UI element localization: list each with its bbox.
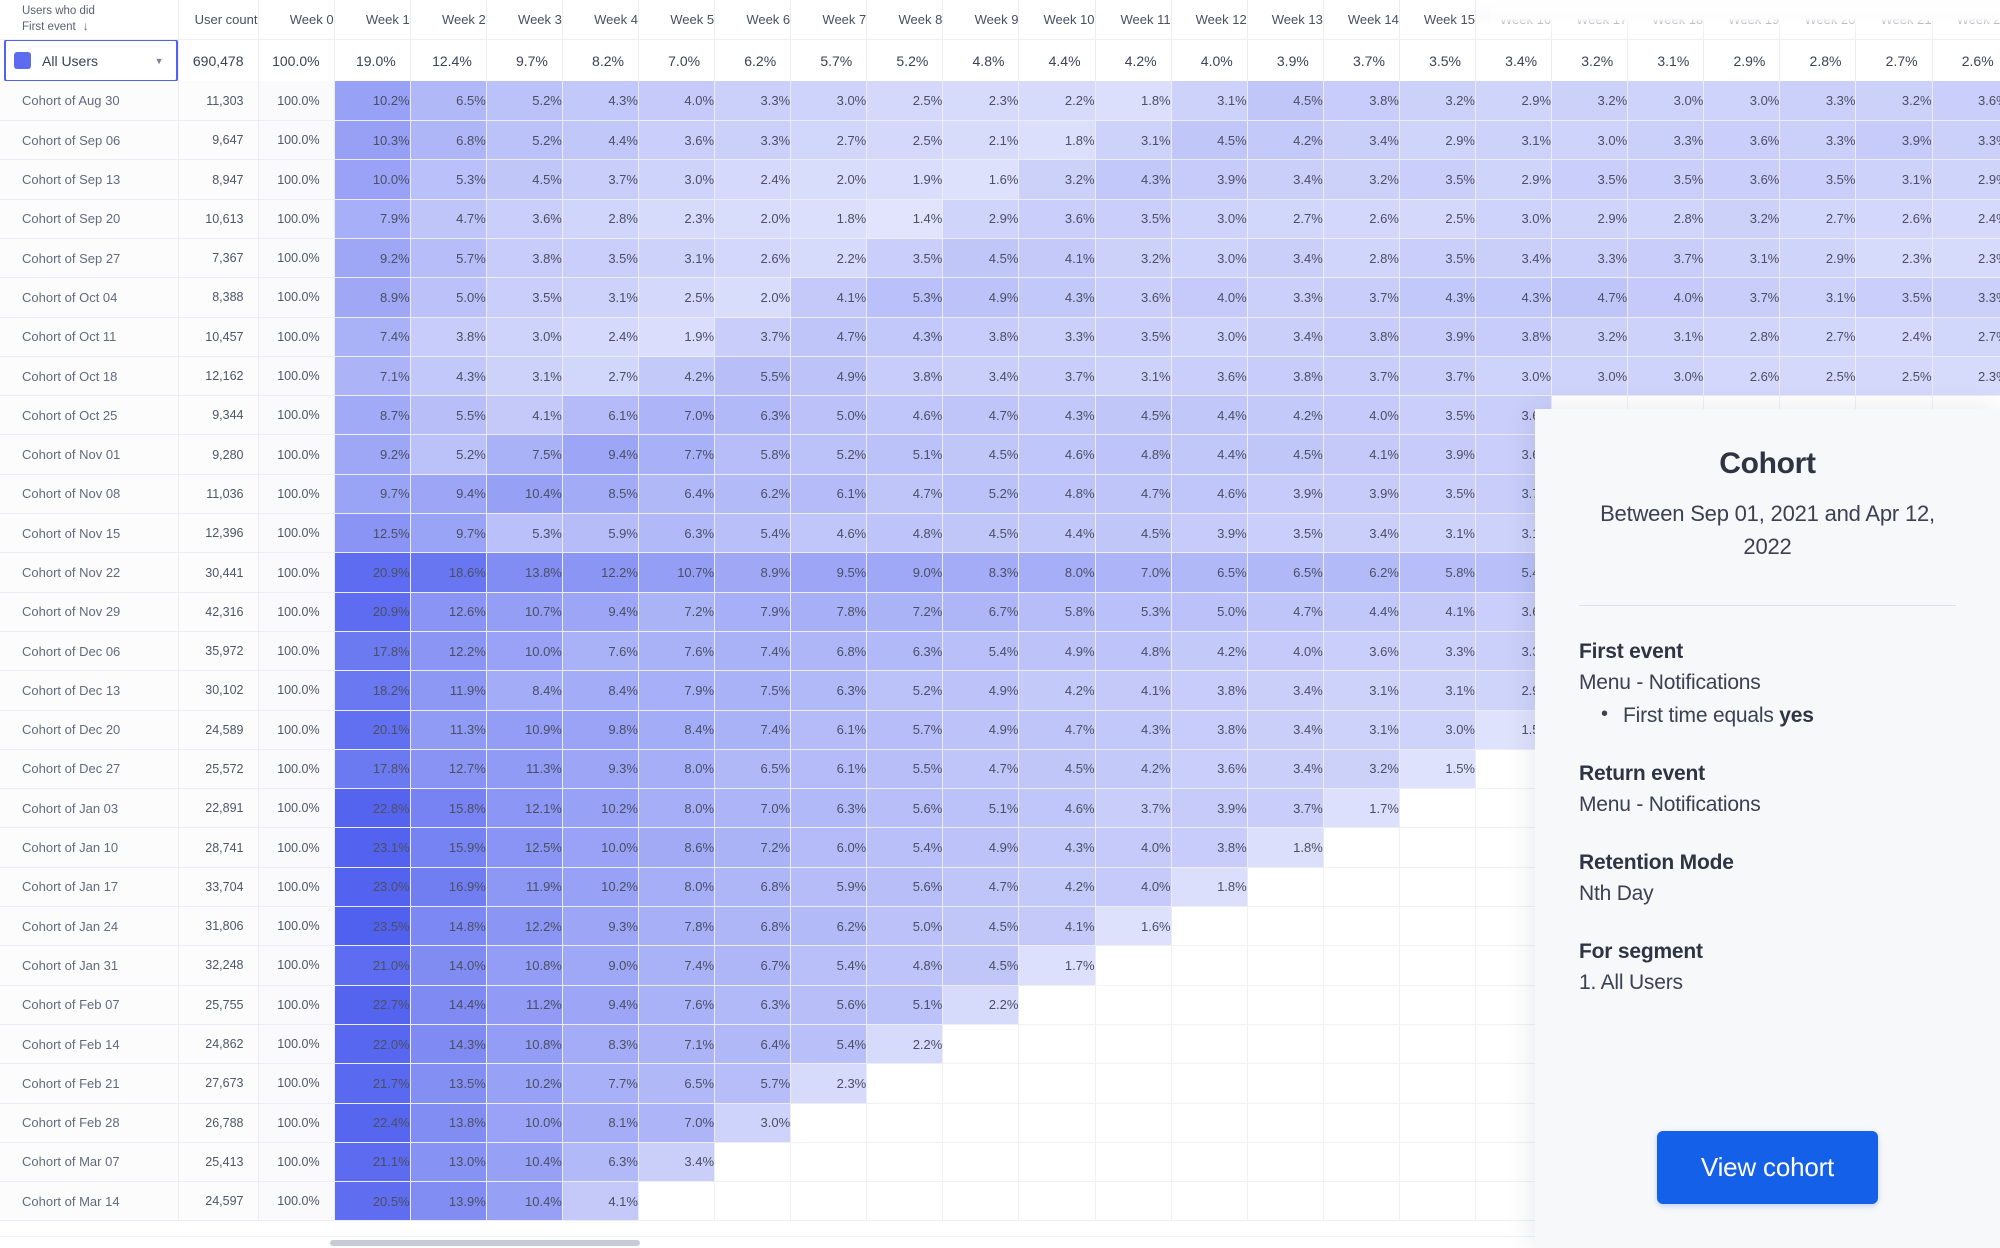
- heatmap-cell[interactable]: 5.8%: [715, 435, 791, 474]
- heatmap-cell[interactable]: 4.7%: [1247, 592, 1323, 631]
- heatmap-cell[interactable]: 7.4%: [715, 631, 791, 670]
- heatmap-cell[interactable]: 5.2%: [867, 671, 943, 710]
- cohort-label[interactable]: Cohort of Nov 01: [0, 435, 178, 474]
- heatmap-cell[interactable]: 4.3%: [562, 81, 638, 120]
- heatmap-cell[interactable]: 9.4%: [562, 435, 638, 474]
- heatmap-cell[interactable]: 1.8%: [1247, 828, 1323, 867]
- heatmap-cell[interactable]: 5.2%: [791, 435, 867, 474]
- heatmap-cell[interactable]: 3.4%: [1247, 671, 1323, 710]
- heatmap-cell[interactable]: 2.4%: [1856, 317, 1932, 356]
- cohort-label[interactable]: Cohort of Nov 29: [0, 592, 178, 631]
- heatmap-cell[interactable]: 5.5%: [715, 356, 791, 395]
- heatmap-cell[interactable]: 23.0%: [334, 867, 410, 906]
- heatmap-cell[interactable]: 4.5%: [943, 514, 1019, 553]
- heatmap-cell[interactable]: 9.4%: [410, 474, 486, 513]
- heatmap-cell[interactable]: 4.9%: [791, 356, 867, 395]
- heatmap-cell[interactable]: 3.9%: [1399, 435, 1475, 474]
- heatmap-cell[interactable]: 2.3%: [791, 1064, 867, 1103]
- heatmap-cell[interactable]: 4.3%: [1019, 396, 1095, 435]
- heatmap-cell[interactable]: 14.0%: [410, 946, 486, 985]
- heatmap-cell[interactable]: 5.8%: [1399, 553, 1475, 592]
- heatmap-cell[interactable]: 5.6%: [791, 985, 867, 1024]
- heatmap-cell[interactable]: 12.2%: [410, 631, 486, 670]
- heatmap-cell[interactable]: 3.2%: [1552, 317, 1628, 356]
- heatmap-cell[interactable]: 3.1%: [1399, 514, 1475, 553]
- cohort-label[interactable]: Cohort of Dec 20: [0, 710, 178, 749]
- heatmap-cell[interactable]: 3.9%: [1856, 121, 1932, 160]
- heatmap-cell[interactable]: 8.3%: [943, 553, 1019, 592]
- heatmap-cell[interactable]: 10.0%: [334, 160, 410, 199]
- heatmap-cell[interactable]: 7.9%: [334, 199, 410, 238]
- heatmap-cell[interactable]: 15.9%: [410, 828, 486, 867]
- heatmap-cell[interactable]: 5.4%: [715, 514, 791, 553]
- heatmap-cell[interactable]: 4.7%: [410, 199, 486, 238]
- heatmap-cell[interactable]: 3.5%: [1399, 396, 1475, 435]
- header-week-8[interactable]: Week 8: [867, 0, 943, 39]
- heatmap-cell[interactable]: 2.5%: [1399, 199, 1475, 238]
- heatmap-cell[interactable]: 5.6%: [867, 867, 943, 906]
- heatmap-cell[interactable]: 3.1%: [1323, 710, 1399, 749]
- heatmap-cell[interactable]: 4.2%: [1171, 631, 1247, 670]
- heatmap-cell[interactable]: 11.9%: [486, 867, 562, 906]
- heatmap-cell[interactable]: 6.2%: [1323, 553, 1399, 592]
- heatmap-cell[interactable]: 5.4%: [867, 828, 943, 867]
- heatmap-cell[interactable]: 3.1%: [1856, 160, 1932, 199]
- heatmap-cell[interactable]: 1.4%: [867, 199, 943, 238]
- heatmap-cell[interactable]: 3.8%: [1476, 317, 1552, 356]
- header-week-10[interactable]: Week 10: [1019, 0, 1095, 39]
- heatmap-cell[interactable]: 2.8%: [1628, 199, 1704, 238]
- heatmap-cell[interactable]: 4.3%: [1476, 278, 1552, 317]
- heatmap-cell[interactable]: 5.3%: [1095, 592, 1171, 631]
- heatmap-cell[interactable]: 3.2%: [1323, 749, 1399, 788]
- heatmap-cell[interactable]: 10.0%: [486, 631, 562, 670]
- heatmap-cell[interactable]: 4.3%: [410, 356, 486, 395]
- cohort-label[interactable]: Cohort of Feb 07: [0, 985, 178, 1024]
- heatmap-cell[interactable]: 4.4%: [1171, 435, 1247, 474]
- cohort-label[interactable]: Cohort of Sep 27: [0, 238, 178, 277]
- heatmap-cell[interactable]: 5.2%: [486, 81, 562, 120]
- heatmap-cell[interactable]: 3.0%: [1171, 238, 1247, 277]
- heatmap-cell[interactable]: 3.1%: [1628, 317, 1704, 356]
- heatmap-cell[interactable]: 3.8%: [1323, 81, 1399, 120]
- heatmap-cell[interactable]: 3.1%: [638, 238, 714, 277]
- heatmap-cell[interactable]: 10.9%: [486, 710, 562, 749]
- heatmap-cell[interactable]: 7.8%: [791, 592, 867, 631]
- heatmap-cell[interactable]: 9.0%: [562, 946, 638, 985]
- heatmap-cell[interactable]: 3.4%: [1247, 710, 1323, 749]
- heatmap-cell[interactable]: 4.2%: [1019, 867, 1095, 906]
- heatmap-cell[interactable]: 8.0%: [1019, 553, 1095, 592]
- heatmap-cell[interactable]: 20.9%: [334, 553, 410, 592]
- heatmap-cell[interactable]: 4.7%: [943, 867, 1019, 906]
- heatmap-cell[interactable]: 4.8%: [867, 514, 943, 553]
- heatmap-cell[interactable]: 4.0%: [1628, 278, 1704, 317]
- cohort-label[interactable]: Cohort of Feb 28: [0, 1103, 178, 1142]
- heatmap-cell[interactable]: 3.3%: [1780, 121, 1856, 160]
- heatmap-cell[interactable]: 4.5%: [1247, 81, 1323, 120]
- heatmap-cell[interactable]: 7.0%: [715, 789, 791, 828]
- heatmap-cell[interactable]: 3.7%: [1323, 278, 1399, 317]
- heatmap-cell[interactable]: 12.2%: [486, 907, 562, 946]
- heatmap-cell[interactable]: 4.7%: [1552, 278, 1628, 317]
- heatmap-cell[interactable]: 2.7%: [1932, 317, 2000, 356]
- heatmap-cell[interactable]: 4.9%: [943, 278, 1019, 317]
- heatmap-cell[interactable]: 3.5%: [1856, 278, 1932, 317]
- heatmap-cell[interactable]: 3.5%: [867, 238, 943, 277]
- cohort-label[interactable]: Cohort of Nov 08: [0, 474, 178, 513]
- heatmap-cell[interactable]: 3.1%: [486, 356, 562, 395]
- heatmap-cell[interactable]: 2.5%: [638, 278, 714, 317]
- cohort-label[interactable]: Cohort of Dec 13: [0, 671, 178, 710]
- heatmap-cell[interactable]: 13.8%: [486, 553, 562, 592]
- heatmap-cell[interactable]: 1.7%: [1019, 946, 1095, 985]
- header-user-count[interactable]: User count: [178, 0, 258, 39]
- heatmap-cell[interactable]: 3.3%: [1628, 121, 1704, 160]
- heatmap-cell[interactable]: 2.7%: [1780, 317, 1856, 356]
- heatmap-cell[interactable]: 6.3%: [867, 631, 943, 670]
- heatmap-cell[interactable]: 10.4%: [486, 474, 562, 513]
- heatmap-cell[interactable]: 7.4%: [715, 710, 791, 749]
- heatmap-cell[interactable]: 2.6%: [1856, 199, 1932, 238]
- heatmap-cell[interactable]: 3.6%: [1095, 278, 1171, 317]
- heatmap-cell[interactable]: 22.0%: [334, 1024, 410, 1063]
- heatmap-cell[interactable]: 3.8%: [486, 238, 562, 277]
- heatmap-cell[interactable]: 14.8%: [410, 907, 486, 946]
- cohort-label[interactable]: Cohort of Oct 18: [0, 356, 178, 395]
- heatmap-cell[interactable]: 4.6%: [1171, 474, 1247, 513]
- heatmap-cell[interactable]: 3.7%: [1019, 356, 1095, 395]
- cohort-label[interactable]: Cohort of Dec 06: [0, 631, 178, 670]
- table-row[interactable]: Cohort of Oct 048,388100.0%8.9%5.0%3.5%3…: [0, 278, 2000, 317]
- heatmap-cell[interactable]: 18.6%: [410, 553, 486, 592]
- heatmap-cell[interactable]: 3.3%: [1932, 278, 2000, 317]
- heatmap-cell[interactable]: 9.7%: [410, 514, 486, 553]
- heatmap-cell[interactable]: 4.7%: [1095, 474, 1171, 513]
- heatmap-cell[interactable]: 7.7%: [562, 1064, 638, 1103]
- heatmap-cell[interactable]: 22.4%: [334, 1103, 410, 1142]
- heatmap-cell[interactable]: 2.8%: [1704, 317, 1780, 356]
- heatmap-cell[interactable]: 3.3%: [715, 81, 791, 120]
- heatmap-cell[interactable]: 3.0%: [1552, 356, 1628, 395]
- heatmap-cell[interactable]: 5.8%: [1019, 592, 1095, 631]
- heatmap-cell[interactable]: 1.6%: [1095, 907, 1171, 946]
- heatmap-cell[interactable]: 9.2%: [334, 435, 410, 474]
- cohort-label[interactable]: Cohort of Jan 03: [0, 789, 178, 828]
- heatmap-cell[interactable]: 7.1%: [638, 1024, 714, 1063]
- heatmap-cell[interactable]: 11.9%: [410, 671, 486, 710]
- heatmap-cell[interactable]: 5.9%: [562, 514, 638, 553]
- heatmap-cell[interactable]: 8.3%: [562, 1024, 638, 1063]
- heatmap-cell[interactable]: 7.1%: [334, 356, 410, 395]
- horizontal-scrollbar-track[interactable]: [0, 1236, 1535, 1248]
- heatmap-cell[interactable]: 3.0%: [791, 81, 867, 120]
- heatmap-cell[interactable]: 3.1%: [1399, 671, 1475, 710]
- heatmap-cell[interactable]: 10.7%: [638, 553, 714, 592]
- sort-descending-icon[interactable]: ↓: [83, 19, 89, 34]
- heatmap-cell[interactable]: 3.8%: [1171, 828, 1247, 867]
- heatmap-cell[interactable]: 4.4%: [562, 121, 638, 160]
- heatmap-cell[interactable]: 22.7%: [334, 985, 410, 1024]
- heatmap-cell[interactable]: 3.0%: [1399, 710, 1475, 749]
- heatmap-cell[interactable]: 3.0%: [1171, 317, 1247, 356]
- heatmap-cell[interactable]: 4.1%: [1399, 592, 1475, 631]
- heatmap-cell[interactable]: 7.7%: [638, 435, 714, 474]
- heatmap-cell[interactable]: 5.7%: [867, 710, 943, 749]
- header-week-12[interactable]: Week 12: [1171, 0, 1247, 39]
- heatmap-cell[interactable]: 2.4%: [1932, 199, 2000, 238]
- heatmap-cell[interactable]: 4.2%: [1247, 396, 1323, 435]
- table-row[interactable]: Cohort of Sep 2010,613100.0%7.9%4.7%3.6%…: [0, 199, 2000, 238]
- heatmap-cell[interactable]: 3.9%: [1247, 474, 1323, 513]
- heatmap-cell[interactable]: 1.8%: [1019, 121, 1095, 160]
- heatmap-cell[interactable]: 14.3%: [410, 1024, 486, 1063]
- heatmap-cell[interactable]: 4.8%: [1019, 474, 1095, 513]
- heatmap-cell[interactable]: 4.3%: [1019, 828, 1095, 867]
- heatmap-cell[interactable]: 2.8%: [562, 199, 638, 238]
- heatmap-cell[interactable]: 3.0%: [638, 160, 714, 199]
- heatmap-cell[interactable]: 1.9%: [867, 160, 943, 199]
- heatmap-cell[interactable]: 1.8%: [791, 199, 867, 238]
- heatmap-cell[interactable]: 4.1%: [486, 396, 562, 435]
- heatmap-cell[interactable]: 6.3%: [562, 1142, 638, 1181]
- header-week-17[interactable]: Week 17: [1552, 0, 1628, 39]
- heatmap-cell[interactable]: 7.6%: [562, 631, 638, 670]
- heatmap-cell[interactable]: 7.2%: [867, 592, 943, 631]
- heatmap-cell[interactable]: 4.5%: [1171, 121, 1247, 160]
- heatmap-cell[interactable]: 6.7%: [715, 946, 791, 985]
- heatmap-cell[interactable]: 7.2%: [715, 828, 791, 867]
- heatmap-cell[interactable]: 8.7%: [334, 396, 410, 435]
- heatmap-cell[interactable]: 8.4%: [486, 671, 562, 710]
- heatmap-cell[interactable]: 3.7%: [1095, 789, 1171, 828]
- heatmap-cell[interactable]: 23.5%: [334, 907, 410, 946]
- heatmap-cell[interactable]: 10.2%: [334, 81, 410, 120]
- heatmap-cell[interactable]: 2.3%: [638, 199, 714, 238]
- heatmap-cell[interactable]: 4.0%: [1095, 828, 1171, 867]
- all-users-cell[interactable]: All Users▼: [0, 39, 178, 81]
- heatmap-cell[interactable]: 9.8%: [562, 710, 638, 749]
- heatmap-cell[interactable]: 21.1%: [334, 1142, 410, 1181]
- heatmap-cell[interactable]: 12.5%: [486, 828, 562, 867]
- heatmap-cell[interactable]: 5.3%: [410, 160, 486, 199]
- header-week-22[interactable]: Week 22: [1932, 0, 2000, 39]
- heatmap-cell[interactable]: 15.8%: [410, 789, 486, 828]
- heatmap-cell[interactable]: 4.8%: [867, 946, 943, 985]
- heatmap-cell[interactable]: 4.5%: [1095, 396, 1171, 435]
- heatmap-cell[interactable]: 4.4%: [1171, 396, 1247, 435]
- heatmap-cell[interactable]: 2.8%: [1323, 238, 1399, 277]
- heatmap-cell[interactable]: 4.3%: [1095, 160, 1171, 199]
- heatmap-cell[interactable]: 9.3%: [562, 749, 638, 788]
- heatmap-cell[interactable]: 6.5%: [638, 1064, 714, 1103]
- heatmap-cell[interactable]: 5.1%: [867, 985, 943, 1024]
- heatmap-cell[interactable]: 5.2%: [943, 474, 1019, 513]
- heatmap-cell[interactable]: 3.4%: [1247, 160, 1323, 199]
- heatmap-cell[interactable]: 4.7%: [943, 396, 1019, 435]
- heatmap-cell[interactable]: 5.4%: [791, 1024, 867, 1063]
- header-week-9[interactable]: Week 9: [943, 0, 1019, 39]
- heatmap-cell[interactable]: 4.5%: [1019, 749, 1095, 788]
- heatmap-cell[interactable]: 5.9%: [791, 867, 867, 906]
- heatmap-cell[interactable]: 3.1%: [562, 278, 638, 317]
- heatmap-cell[interactable]: 3.0%: [1476, 199, 1552, 238]
- heatmap-cell[interactable]: 4.0%: [1095, 867, 1171, 906]
- heatmap-cell[interactable]: 13.5%: [410, 1064, 486, 1103]
- cohort-label[interactable]: Cohort of Sep 20: [0, 199, 178, 238]
- heatmap-cell[interactable]: 5.0%: [791, 396, 867, 435]
- heatmap-cell[interactable]: 8.0%: [638, 789, 714, 828]
- heatmap-cell[interactable]: 1.5%: [1399, 749, 1475, 788]
- heatmap-cell[interactable]: 8.4%: [638, 710, 714, 749]
- heatmap-cell[interactable]: 3.4%: [1323, 514, 1399, 553]
- heatmap-cell[interactable]: 4.8%: [1095, 435, 1171, 474]
- heatmap-cell[interactable]: 9.3%: [562, 907, 638, 946]
- heatmap-cell[interactable]: 7.5%: [715, 671, 791, 710]
- header-week-0[interactable]: Week 0: [258, 0, 334, 39]
- heatmap-cell[interactable]: 3.1%: [1780, 278, 1856, 317]
- heatmap-cell[interactable]: 10.2%: [562, 867, 638, 906]
- heatmap-cell[interactable]: 8.9%: [334, 278, 410, 317]
- heatmap-cell[interactable]: 11.3%: [410, 710, 486, 749]
- cohort-label[interactable]: Cohort of Mar 07: [0, 1142, 178, 1181]
- heatmap-cell[interactable]: 3.9%: [1171, 160, 1247, 199]
- header-week-6[interactable]: Week 6: [715, 0, 791, 39]
- heatmap-cell[interactable]: 4.6%: [1019, 789, 1095, 828]
- heatmap-cell[interactable]: 12.2%: [562, 553, 638, 592]
- cohort-label[interactable]: Cohort of Jan 24: [0, 907, 178, 946]
- heatmap-cell[interactable]: 13.9%: [410, 1182, 486, 1221]
- heatmap-cell[interactable]: 2.9%: [1476, 160, 1552, 199]
- heatmap-cell[interactable]: 4.0%: [1323, 396, 1399, 435]
- heatmap-cell[interactable]: 10.0%: [562, 828, 638, 867]
- heatmap-cell[interactable]: 12.5%: [334, 514, 410, 553]
- heatmap-cell[interactable]: 3.5%: [1399, 474, 1475, 513]
- header-week-5[interactable]: Week 5: [638, 0, 714, 39]
- heatmap-cell[interactable]: 12.1%: [486, 789, 562, 828]
- heatmap-cell[interactable]: 3.2%: [1095, 238, 1171, 277]
- heatmap-cell[interactable]: 2.2%: [791, 238, 867, 277]
- heatmap-cell[interactable]: 5.2%: [410, 435, 486, 474]
- heatmap-cell[interactable]: 3.1%: [1704, 238, 1780, 277]
- heatmap-cell[interactable]: 4.6%: [791, 514, 867, 553]
- cohort-label[interactable]: Cohort of Sep 06: [0, 121, 178, 160]
- heatmap-cell[interactable]: 2.9%: [1552, 199, 1628, 238]
- heatmap-cell[interactable]: 4.1%: [791, 278, 867, 317]
- heatmap-cell[interactable]: 3.3%: [1932, 121, 2000, 160]
- heatmap-cell[interactable]: 2.6%: [1704, 356, 1780, 395]
- heatmap-cell[interactable]: 22.8%: [334, 789, 410, 828]
- heatmap-cell[interactable]: 3.2%: [1856, 81, 1932, 120]
- heatmap-cell[interactable]: 6.8%: [410, 121, 486, 160]
- heatmap-cell[interactable]: 3.4%: [943, 356, 1019, 395]
- heatmap-cell[interactable]: 3.0%: [1628, 81, 1704, 120]
- heatmap-cell[interactable]: 2.3%: [943, 81, 1019, 120]
- heatmap-cell[interactable]: 1.8%: [1095, 81, 1171, 120]
- heatmap-cell[interactable]: 3.3%: [1780, 81, 1856, 120]
- heatmap-cell[interactable]: 1.8%: [1171, 867, 1247, 906]
- heatmap-cell[interactable]: 4.3%: [867, 317, 943, 356]
- header-week-20[interactable]: Week 20: [1780, 0, 1856, 39]
- heatmap-cell[interactable]: 4.5%: [1095, 514, 1171, 553]
- heatmap-cell[interactable]: 6.1%: [791, 749, 867, 788]
- header-week-18[interactable]: Week 18: [1628, 0, 1704, 39]
- heatmap-cell[interactable]: 4.1%: [1019, 238, 1095, 277]
- heatmap-cell[interactable]: 3.8%: [1171, 710, 1247, 749]
- cohort-label[interactable]: Cohort of Feb 14: [0, 1024, 178, 1063]
- heatmap-cell[interactable]: 3.6%: [1704, 160, 1780, 199]
- heatmap-cell[interactable]: 4.5%: [1247, 435, 1323, 474]
- heatmap-cell[interactable]: 6.5%: [1247, 553, 1323, 592]
- table-row[interactable]: Cohort of Oct 1812,162100.0%7.1%4.3%3.1%…: [0, 356, 2000, 395]
- heatmap-cell[interactable]: 10.4%: [486, 1182, 562, 1221]
- heatmap-cell[interactable]: 2.5%: [1856, 356, 1932, 395]
- heatmap-cell[interactable]: 6.8%: [715, 867, 791, 906]
- heatmap-cell[interactable]: 5.1%: [943, 789, 1019, 828]
- heatmap-cell[interactable]: 7.4%: [638, 946, 714, 985]
- heatmap-cell[interactable]: 3.8%: [1323, 317, 1399, 356]
- heatmap-cell[interactable]: 4.2%: [1095, 749, 1171, 788]
- heatmap-cell[interactable]: 3.9%: [1171, 514, 1247, 553]
- chevron-down-icon[interactable]: ▼: [155, 56, 164, 66]
- heatmap-cell[interactable]: 3.6%: [1019, 199, 1095, 238]
- heatmap-cell[interactable]: 3.2%: [1399, 81, 1475, 120]
- heatmap-cell[interactable]: 4.1%: [562, 1182, 638, 1221]
- heatmap-cell[interactable]: 6.0%: [791, 828, 867, 867]
- heatmap-cell[interactable]: 3.9%: [1171, 789, 1247, 828]
- heatmap-cell[interactable]: 6.2%: [791, 907, 867, 946]
- heatmap-cell[interactable]: 4.5%: [943, 907, 1019, 946]
- heatmap-cell[interactable]: 21.0%: [334, 946, 410, 985]
- heatmap-cell[interactable]: 2.7%: [562, 356, 638, 395]
- heatmap-cell[interactable]: 3.7%: [562, 160, 638, 199]
- heatmap-cell[interactable]: 2.9%: [1780, 238, 1856, 277]
- table-row[interactable]: Cohort of Sep 138,947100.0%10.0%5.3%4.5%…: [0, 160, 2000, 199]
- heatmap-cell[interactable]: 2.0%: [715, 199, 791, 238]
- header-first-event[interactable]: Users who did First event↓: [0, 0, 178, 39]
- heatmap-cell[interactable]: 3.4%: [1247, 317, 1323, 356]
- heatmap-cell[interactable]: 16.9%: [410, 867, 486, 906]
- heatmap-cell[interactable]: 3.3%: [1552, 238, 1628, 277]
- heatmap-cell[interactable]: 2.7%: [1247, 199, 1323, 238]
- heatmap-cell[interactable]: 2.4%: [715, 160, 791, 199]
- heatmap-cell[interactable]: 6.3%: [791, 671, 867, 710]
- heatmap-cell[interactable]: 3.2%: [1552, 81, 1628, 120]
- heatmap-cell[interactable]: 21.7%: [334, 1064, 410, 1103]
- heatmap-cell[interactable]: 2.9%: [1932, 160, 2000, 199]
- heatmap-cell[interactable]: 3.0%: [1552, 121, 1628, 160]
- heatmap-cell[interactable]: 3.3%: [715, 121, 791, 160]
- heatmap-cell[interactable]: 2.6%: [1323, 199, 1399, 238]
- header-week-15[interactable]: Week 15: [1399, 0, 1475, 39]
- heatmap-cell[interactable]: 4.3%: [1095, 710, 1171, 749]
- heatmap-cell[interactable]: 7.0%: [1095, 553, 1171, 592]
- heatmap-cell[interactable]: 3.6%: [1323, 631, 1399, 670]
- heatmap-cell[interactable]: 6.8%: [791, 631, 867, 670]
- heatmap-cell[interactable]: 4.7%: [943, 749, 1019, 788]
- heatmap-cell[interactable]: 20.5%: [334, 1182, 410, 1221]
- heatmap-cell[interactable]: 3.9%: [1399, 317, 1475, 356]
- cohort-label[interactable]: Cohort of Mar 14: [0, 1182, 178, 1221]
- heatmap-cell[interactable]: 7.6%: [638, 985, 714, 1024]
- heatmap-cell[interactable]: 3.5%: [1628, 160, 1704, 199]
- heatmap-cell[interactable]: 4.0%: [1247, 631, 1323, 670]
- heatmap-cell[interactable]: 20.9%: [334, 592, 410, 631]
- heatmap-cell[interactable]: 3.9%: [1323, 474, 1399, 513]
- heatmap-cell[interactable]: 6.2%: [715, 474, 791, 513]
- heatmap-cell[interactable]: 11.2%: [486, 985, 562, 1024]
- heatmap-cell[interactable]: 2.5%: [867, 81, 943, 120]
